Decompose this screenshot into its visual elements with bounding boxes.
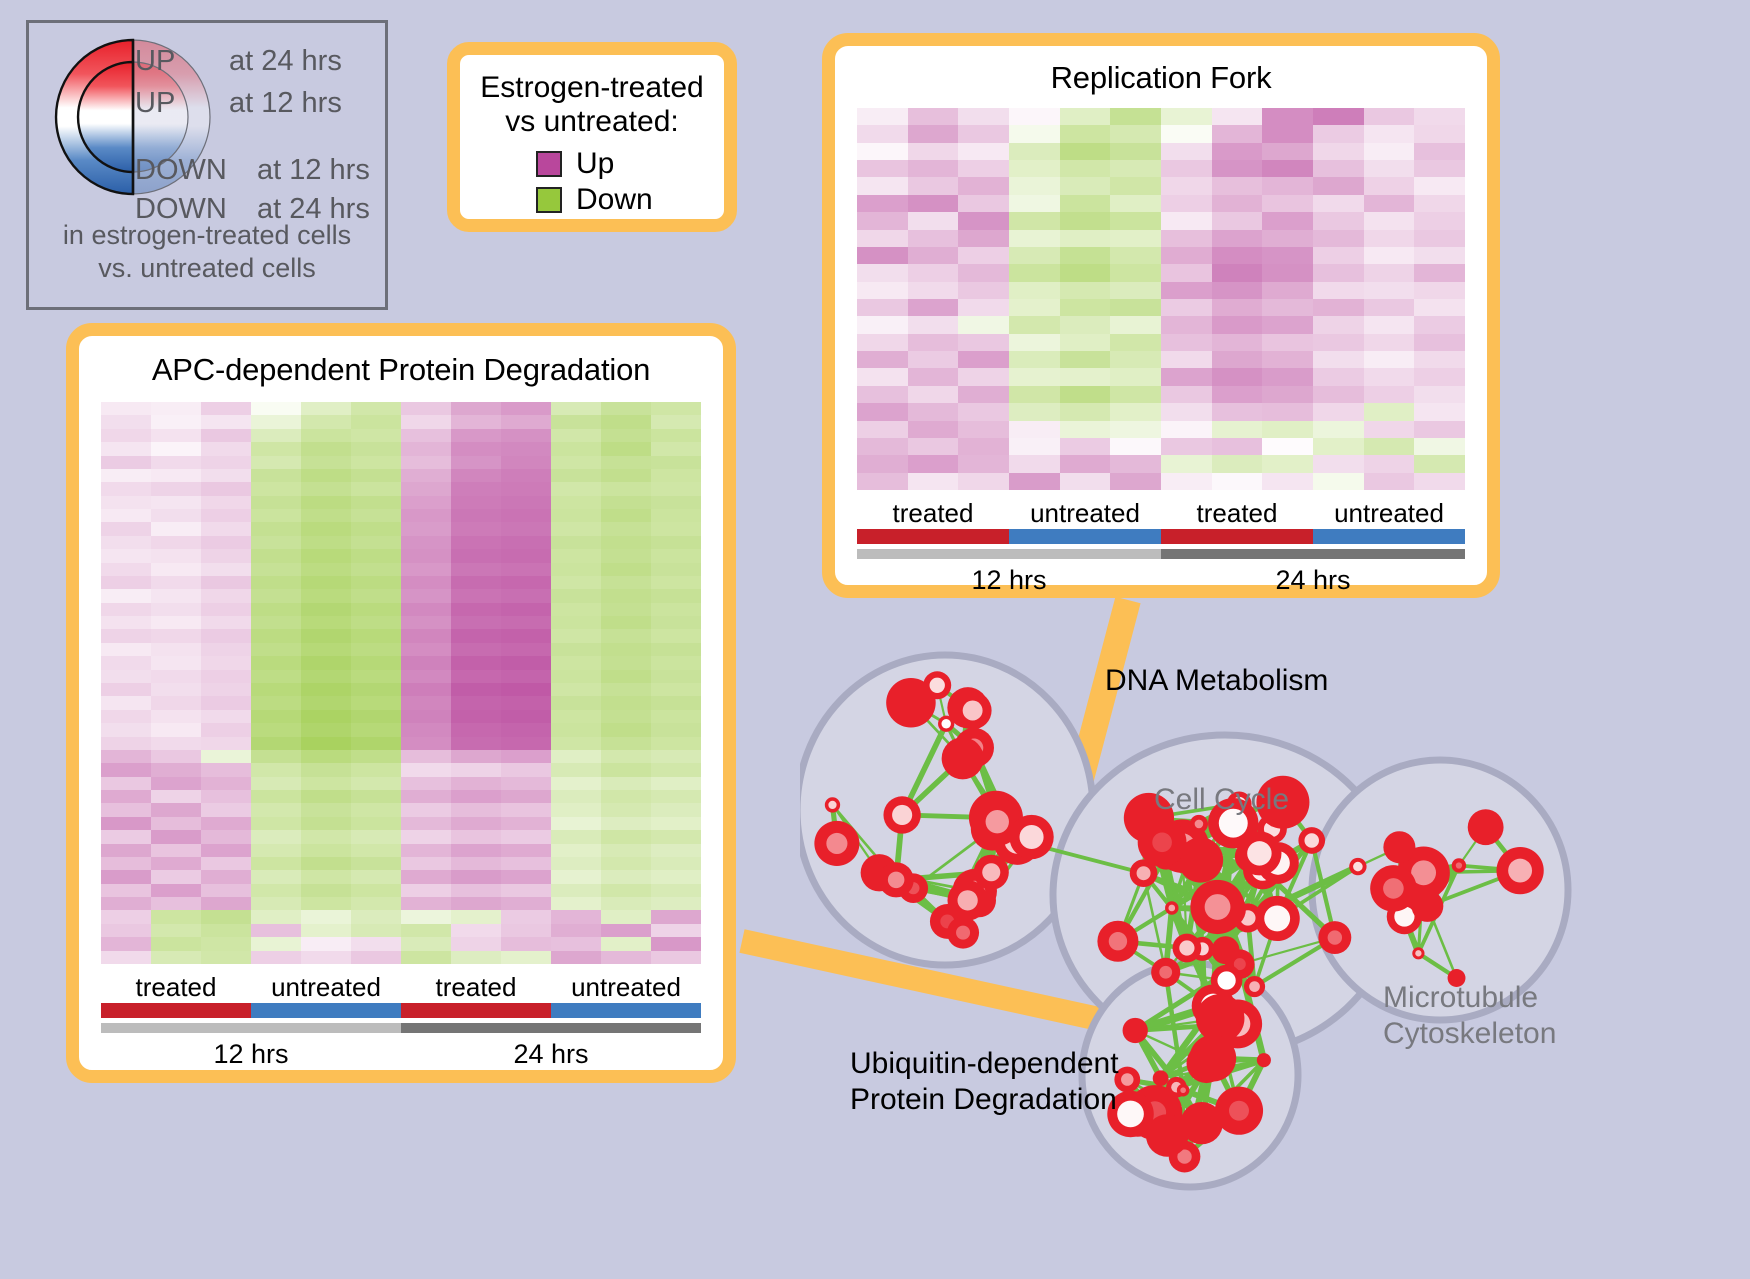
- heatmap-cell: [908, 368, 959, 385]
- heatmap-cell: [1364, 473, 1415, 490]
- heatmap-cell: [151, 643, 201, 656]
- heatmap-cell: [1262, 334, 1313, 351]
- heatmap-cell: [1212, 351, 1263, 368]
- heatmap-cell: [551, 563, 601, 576]
- heatmap-cell: [1009, 334, 1060, 351]
- heatmap-cell: [451, 897, 501, 910]
- heatmap-cell: [401, 656, 451, 669]
- heatmap-cell: [857, 316, 908, 333]
- heatmap-cell: [251, 884, 301, 897]
- network-node[interactable]: [1153, 1070, 1169, 1086]
- heatmap-cell: [451, 696, 501, 709]
- heatmap-cell: [251, 817, 301, 830]
- heatmap-cell: [401, 696, 451, 709]
- heatmap-cell: [151, 937, 201, 950]
- heatmap-cell: [351, 656, 401, 669]
- heatmap-cell: [401, 670, 451, 683]
- heatmap-cell: [908, 177, 959, 194]
- heatmap-cell: [151, 763, 201, 776]
- heatmap-cell: [301, 951, 351, 964]
- heatmap-cell: [301, 897, 351, 910]
- heatmap-cell: [857, 455, 908, 472]
- heatmap-cell: [401, 536, 451, 549]
- heatmap-cell: [401, 616, 451, 629]
- heatmap-cell: [451, 656, 501, 669]
- heatmap-cell: [551, 683, 601, 696]
- heatmap-cell: [201, 763, 251, 776]
- heatmap-cell: [551, 897, 601, 910]
- heatmap-cell: [401, 737, 451, 750]
- heatmap-cell: [351, 910, 401, 923]
- heatmap-cell: [651, 857, 701, 870]
- heatmap-cell: [1060, 368, 1111, 385]
- heatmap-cell: [351, 549, 401, 562]
- heatmap-cell: [551, 496, 601, 509]
- heatmap-cell: [1009, 195, 1060, 212]
- group-bar-seg-1: [1009, 529, 1161, 544]
- heatmap-cell: [1110, 403, 1161, 420]
- heatmap-cell: [1414, 282, 1465, 299]
- heatmap-cell: [1161, 421, 1212, 438]
- heatmap-cell: [958, 403, 1009, 420]
- group-label-2: treated: [401, 972, 551, 1003]
- heatmap-cell: [501, 817, 551, 830]
- heatmap-cell: [1262, 160, 1313, 177]
- heatmap-cell: [1161, 230, 1212, 247]
- heatmap-cell: [451, 937, 501, 950]
- heatmap-cell: [601, 496, 651, 509]
- heatmap-cell: [1161, 334, 1212, 351]
- time-bar-seg-24hrs: [1161, 549, 1465, 559]
- heatmap-cell: [1262, 421, 1313, 438]
- treatment-legend-heading-line2: vs untreated:: [460, 105, 724, 139]
- heatmap-cell: [651, 937, 701, 950]
- heatmap-cell: [151, 683, 201, 696]
- heatmap-cell: [151, 536, 201, 549]
- heatmap-cell: [151, 870, 201, 883]
- heatmap-cell: [601, 442, 651, 455]
- heatmap-cell: [251, 951, 301, 964]
- heatmap-cell: [151, 777, 201, 790]
- heatmap-cell: [1009, 299, 1060, 316]
- heatmap-cell: [351, 884, 401, 897]
- heatmap-cell: [601, 402, 651, 415]
- heatmap-cell: [401, 415, 451, 428]
- heatmap-cell: [1414, 195, 1465, 212]
- heatmap-cell: [651, 469, 701, 482]
- heatmap-cell: [1009, 143, 1060, 160]
- heatmap-cell: [101, 870, 151, 883]
- heatmap-cell: [351, 456, 401, 469]
- heatmap-cell: [651, 482, 701, 495]
- heatmap-cell: [201, 629, 251, 642]
- heatmap-cell: [201, 482, 251, 495]
- heatmap-cell: [101, 723, 151, 736]
- heatmap-cell: [251, 897, 301, 910]
- heatmap-cell: [1414, 455, 1465, 472]
- heatmap-cell: [601, 509, 651, 522]
- heatmap-cell: [1364, 316, 1415, 333]
- heatmap-cell: [201, 844, 251, 857]
- heatmap-cell: [301, 496, 351, 509]
- heatmap-cell: [601, 603, 651, 616]
- network-node-core: [1168, 905, 1175, 912]
- heatmap-cell: [1414, 143, 1465, 160]
- heatmap-cell: [501, 750, 551, 763]
- heatmap-cell: [1110, 247, 1161, 264]
- heatmap-cell: [1414, 160, 1465, 177]
- heatmap-cell: [857, 351, 908, 368]
- heatmap-cell: [857, 403, 908, 420]
- heatmap-cell: [301, 603, 351, 616]
- heatmap-cell: [201, 897, 251, 910]
- network-node-core: [1353, 862, 1363, 872]
- heatmap-cell: [1414, 247, 1465, 264]
- heatmap-cell: [1009, 403, 1060, 420]
- heatmap-cell: [551, 937, 601, 950]
- heatmap-cell: [1364, 264, 1415, 281]
- heatmap-cell: [651, 683, 701, 696]
- heatmap-cell: [1161, 108, 1212, 125]
- heatmap-cell: [1262, 316, 1313, 333]
- heatmap-cell: [1212, 455, 1263, 472]
- heatmap-cell: [651, 670, 701, 683]
- heatmap-cell: [251, 576, 301, 589]
- heatmap-cell: [251, 402, 301, 415]
- heatmap-cell: [1009, 386, 1060, 403]
- network-node-core: [1328, 930, 1342, 944]
- heatmap-cell: [601, 777, 651, 790]
- heatmap-cell: [501, 429, 551, 442]
- heatmap-cell: [401, 951, 451, 964]
- heatmap-cell: [1110, 143, 1161, 160]
- heatmap-cell: [301, 536, 351, 549]
- network-node[interactable]: [942, 737, 984, 779]
- legend-direction-0: UP: [135, 45, 175, 78]
- heatmap-cell: [501, 456, 551, 469]
- heatmap-cell: [1364, 351, 1415, 368]
- heatmap-cell: [958, 247, 1009, 264]
- heatmap-cell: [501, 870, 551, 883]
- heatmap-cell: [651, 522, 701, 535]
- heatmap-cell: [101, 415, 151, 428]
- heatmap-cell: [151, 576, 201, 589]
- heatmap-cell: [401, 857, 451, 870]
- heatmap-cell: [908, 247, 959, 264]
- group-label-0: treated: [857, 498, 1009, 529]
- heatmap-cell: [151, 563, 201, 576]
- heatmap-cell: [101, 817, 151, 830]
- heatmap-cell: [1060, 195, 1111, 212]
- heatmap-cell: [201, 803, 251, 816]
- heatmap-cell: [501, 509, 551, 522]
- heatmap-cell: [101, 924, 151, 937]
- heatmap-cell: [1414, 212, 1465, 229]
- heatmap-cell: [551, 643, 601, 656]
- heatmap-cell: [1364, 438, 1415, 455]
- heatmap-cell: [651, 910, 701, 923]
- heatmap-cell: [1313, 125, 1364, 142]
- heatmap-cell: [551, 603, 601, 616]
- heatmap-cell: [1262, 455, 1313, 472]
- heatmap-cell: [1313, 143, 1364, 160]
- heatmap-cell: [501, 496, 551, 509]
- heatmap-cell: [1212, 316, 1263, 333]
- heatmap-cell: [151, 710, 201, 723]
- heatmap-cell: [451, 576, 501, 589]
- heatmap-cell: [601, 844, 651, 857]
- heatmap-cell: [1060, 455, 1111, 472]
- heatmap-cell: [201, 496, 251, 509]
- heatmap-cell: [501, 589, 551, 602]
- apc-time-labels: 12 hrs 24 hrs: [101, 1039, 701, 1070]
- network-node[interactable]: [1123, 1018, 1148, 1043]
- network-node-core: [1159, 966, 1172, 979]
- heatmap-cell: [958, 438, 1009, 455]
- heatmap-cell: [1060, 212, 1111, 229]
- heatmap-cell: [201, 603, 251, 616]
- heatmap-cell: [1110, 299, 1161, 316]
- heatmap-cell: [301, 563, 351, 576]
- network-node-core: [1195, 820, 1204, 829]
- heatmap-cell: [601, 723, 651, 736]
- network-node[interactable]: [1190, 1035, 1237, 1082]
- cluster-label-ubiquitin-protein-degradation: Ubiquitin-dependent Protein Degradation: [850, 1046, 1119, 1118]
- heatmap-cell: [651, 563, 701, 576]
- heatmap-cell: [501, 857, 551, 870]
- heatmap-cell: [251, 683, 301, 696]
- heatmap-cell: [1313, 299, 1364, 316]
- heatmap-cell: [551, 589, 601, 602]
- heatmap-cell: [551, 482, 601, 495]
- heatmap-cell: [1009, 212, 1060, 229]
- heatmap-cell: [1009, 455, 1060, 472]
- heatmap-cell: [501, 777, 551, 790]
- heatmap-cell: [908, 143, 959, 160]
- group-label-3: untreated: [551, 972, 701, 1003]
- heatmap-cell: [958, 368, 1009, 385]
- heatmap-cell: [1313, 473, 1364, 490]
- heatmap-cell: [651, 790, 701, 803]
- cluster-label-microtubule-cytoskeleton: Microtubule Cytoskeleton: [1383, 980, 1556, 1052]
- heatmap-cell: [857, 421, 908, 438]
- group-label-0: treated: [101, 972, 251, 1003]
- heatmap-cell: [151, 589, 201, 602]
- heatmap-cell: [1009, 125, 1060, 142]
- heatmap-cell: [857, 160, 908, 177]
- heatmap-cell: [201, 402, 251, 415]
- heatmap-cell: [651, 629, 701, 642]
- heatmap-cell: [401, 589, 451, 602]
- heatmap-cell: [351, 937, 401, 950]
- heatmap-cell: [601, 456, 651, 469]
- heatmap-cell: [1414, 299, 1465, 316]
- heatmap-cell: [1262, 212, 1313, 229]
- heatmap-cell: [401, 803, 451, 816]
- heatmap-cell: [1212, 230, 1263, 247]
- heatmap-cell: [1313, 160, 1364, 177]
- heatmap-cell: [201, 937, 251, 950]
- heatmap-cell: [651, 710, 701, 723]
- heatmap-cell: [601, 870, 651, 883]
- heatmap-cell: [401, 790, 451, 803]
- heatmap-cell: [1414, 403, 1465, 420]
- heatmap-cell: [1161, 195, 1212, 212]
- heatmap-cell: [151, 830, 201, 843]
- heatmap-cell: [351, 696, 401, 709]
- heatmap-cell: [451, 951, 501, 964]
- heatmap-cell: [401, 429, 451, 442]
- heatmap-cell: [1060, 403, 1111, 420]
- heatmap-cell: [251, 790, 301, 803]
- network-node[interactable]: [1468, 809, 1504, 845]
- heatmap-cell: [1414, 386, 1465, 403]
- network-node[interactable]: [1383, 831, 1415, 863]
- heatmap-cell: [958, 386, 1009, 403]
- network-node-core: [1121, 1073, 1134, 1086]
- heatmap-cell: [908, 351, 959, 368]
- heatmap-cell: [151, 496, 201, 509]
- heatmap-cell: [351, 603, 401, 616]
- heatmap-cell: [601, 536, 651, 549]
- heatmap-cell: [551, 737, 601, 750]
- heatmap-cell: [651, 643, 701, 656]
- heatmap-cell: [601, 522, 651, 535]
- heatmap-cell: [201, 750, 251, 763]
- heatmap-cell: [451, 870, 501, 883]
- heatmap-cell: [1313, 438, 1364, 455]
- heatmap-cell: [1414, 368, 1465, 385]
- heatmap-cell: [908, 212, 959, 229]
- heatmap-cell: [1313, 368, 1364, 385]
- heatmap-cell: [1110, 473, 1161, 490]
- network-node-core: [1249, 981, 1260, 992]
- heatmap-cell: [501, 522, 551, 535]
- heatmap-cell: [501, 830, 551, 843]
- heatmap-cell: [501, 723, 551, 736]
- heatmap-cell: [1161, 299, 1212, 316]
- replication-fork-body: treated untreated treated untreated 12 h…: [835, 108, 1487, 596]
- network-node[interactable]: [1412, 890, 1444, 922]
- apc-title: APC-dependent Protein Degradation: [79, 352, 723, 388]
- heatmap-cell: [1161, 455, 1212, 472]
- heatmap-cell: [451, 589, 501, 602]
- heatmap-cell: [501, 415, 551, 428]
- network-node-core: [1415, 950, 1421, 956]
- heatmap-cell: [551, 803, 601, 816]
- legend-time-1: at 12 hrs: [229, 87, 342, 120]
- apc-group-labels: treated untreated treated untreated: [101, 972, 701, 1003]
- heatmap-cell: [651, 509, 701, 522]
- heatmap-cell: [651, 496, 701, 509]
- heatmap-cell: [101, 884, 151, 897]
- replication-fork-time-bar: [857, 549, 1465, 559]
- heatmap-cell: [1110, 351, 1161, 368]
- network-node[interactable]: [1196, 994, 1245, 1043]
- heatmap-cell: [1212, 195, 1263, 212]
- network-node-core: [982, 863, 1000, 881]
- legend-direction-1: UP: [135, 87, 175, 120]
- heatmap-cell: [1060, 386, 1111, 403]
- heatmap-cell: [351, 683, 401, 696]
- heatmap-cell: [351, 857, 401, 870]
- network-node[interactable]: [1257, 1053, 1271, 1067]
- heatmap-cell: [1364, 177, 1415, 194]
- heatmap-cell: [651, 951, 701, 964]
- heatmap-cell: [1009, 108, 1060, 125]
- network-node-core: [826, 833, 847, 854]
- heatmap-cell: [501, 576, 551, 589]
- heatmap-cell: [401, 830, 451, 843]
- replication-fork-group-labels: treated untreated treated untreated: [857, 498, 1465, 529]
- heatmap-cell: [301, 402, 351, 415]
- heatmap-cell: [601, 737, 651, 750]
- heatmap-cell: [101, 737, 151, 750]
- heatmap-cell: [301, 522, 351, 535]
- heatmap-cell: [251, 563, 301, 576]
- heatmap-cell: [1414, 473, 1465, 490]
- heatmap-cell: [201, 469, 251, 482]
- heatmap-cell: [1262, 403, 1313, 420]
- heatmap-cell: [101, 844, 151, 857]
- heatmap-cell: [601, 643, 651, 656]
- heatmap-cell: [151, 402, 201, 415]
- heatmap-cell: [351, 817, 401, 830]
- heatmap-cell: [401, 643, 451, 656]
- heatmap-cell: [101, 857, 151, 870]
- heatmap-cell: [451, 629, 501, 642]
- network-node-core: [1152, 833, 1172, 853]
- heatmap-cell: [101, 536, 151, 549]
- heatmap-cell: [151, 509, 201, 522]
- heatmap-cell: [101, 429, 151, 442]
- heatmap-cell: [101, 616, 151, 629]
- heatmap-cell: [1262, 177, 1313, 194]
- heatmap-cell: [301, 442, 351, 455]
- heatmap-cell: [101, 576, 151, 589]
- heatmap-cell: [1364, 125, 1415, 142]
- heatmap-cell: [151, 696, 201, 709]
- heatmap-cell: [301, 696, 351, 709]
- heatmap-cell: [1262, 125, 1313, 142]
- heatmap-cell: [601, 817, 651, 830]
- time-bar-seg-12hrs: [857, 549, 1161, 559]
- heatmap-cell: [1262, 386, 1313, 403]
- heatmap-cell: [201, 415, 251, 428]
- heatmap-cell: [551, 456, 601, 469]
- heatmap-cell: [551, 536, 601, 549]
- heatmap-cell: [1364, 403, 1415, 420]
- heatmap-cell: [651, 402, 701, 415]
- heatmap-cell: [101, 496, 151, 509]
- heatmap-cell: [251, 737, 301, 750]
- heatmap-cell: [451, 777, 501, 790]
- heatmap-cell: [551, 469, 601, 482]
- heatmap-cell: [251, 616, 301, 629]
- heatmap-cell: [251, 844, 301, 857]
- heatmap-cell: [601, 429, 651, 442]
- heatmap-cell: [1110, 108, 1161, 125]
- heatmap-cell: [401, 456, 451, 469]
- heatmap-cell: [101, 522, 151, 535]
- heatmap-cell: [857, 473, 908, 490]
- replication-fork-time-labels: 12 hrs 24 hrs: [857, 565, 1465, 596]
- apc-panel: APC-dependent Protein Degradation treate…: [66, 323, 736, 1083]
- heatmap-cell: [301, 870, 351, 883]
- heatmap-cell: [151, 656, 201, 669]
- heatmap-cell: [1009, 368, 1060, 385]
- heatmap-cell: [251, 536, 301, 549]
